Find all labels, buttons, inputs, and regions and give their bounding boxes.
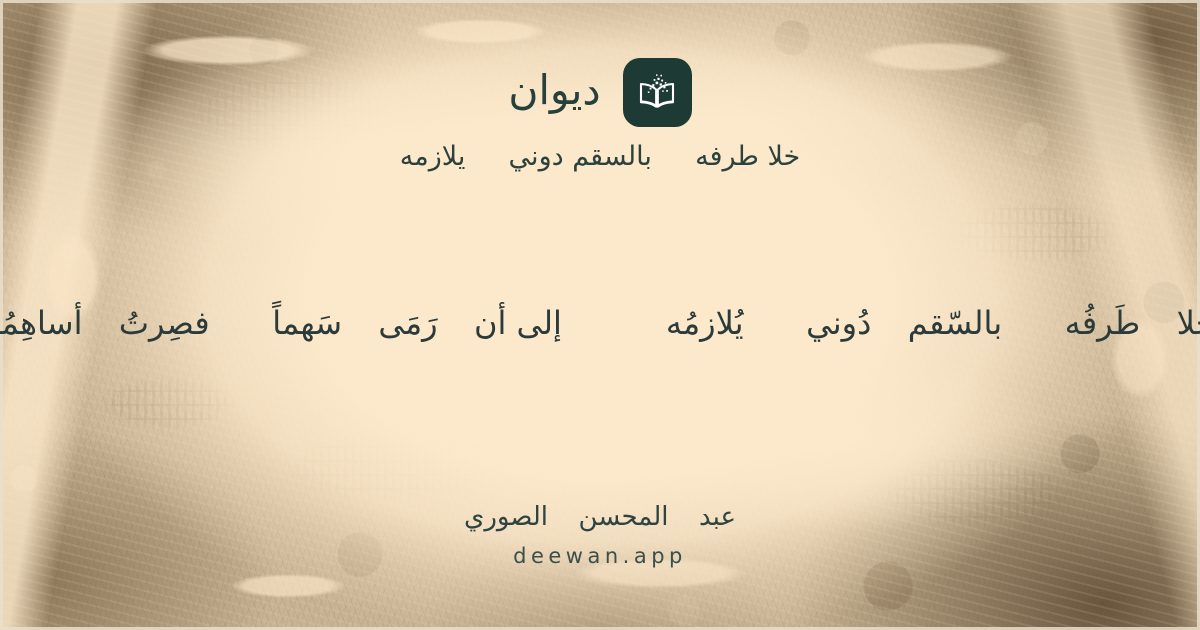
verse-word: خَلا [1177, 304, 1200, 342]
verse-word: أساهِمُه [0, 304, 83, 342]
verse-word: بالسّقم [908, 304, 1002, 342]
headline-part-3: يلازمه [400, 141, 466, 172]
card-content: ديوان خلا طرفه بالسقم دوني يلازمه خَلا ط… [0, 0, 1200, 630]
card-footer: عبد المحسن الصوري deewan.app [0, 500, 1200, 570]
verse-word: إلى أن [474, 304, 562, 342]
verse-headline: خلا طرفه بالسقم دوني يلازمه [0, 137, 1200, 177]
brand-name: ديوان [508, 70, 600, 115]
poet-name-part-2: المحسن [579, 502, 669, 532]
poet-name-part-3: الصوري [464, 502, 548, 532]
poet-name-part-1: عبد [699, 502, 736, 532]
verse-word: فصِرتُ [119, 304, 210, 342]
verse-word: طَرفُه [1065, 304, 1141, 342]
headline-part-1: خلا طرفه [695, 141, 800, 172]
verse-word: يُلازمُه [666, 304, 744, 342]
site-url[interactable]: deewan.app [0, 542, 1200, 570]
poet-name[interactable]: عبد المحسن الصوري [0, 500, 1200, 534]
share-card: ديوان خلا طرفه بالسقم دوني يلازمه خَلا ط… [0, 0, 1200, 630]
verse-word: رَمَى [378, 304, 437, 342]
brand-lockup[interactable]: ديوان [0, 58, 1200, 127]
verse-left-hemistich: إلى أن رَمَى سَهماً فصِرتُ أساهِمُه [0, 296, 562, 350]
verse-line: خَلا طَرفُه بالسّقم دُوني يُلازمُه إلى أ… [0, 296, 1200, 350]
deewan-logo[interactable] [623, 58, 692, 127]
headline-part-2: بالسقم دوني [509, 141, 652, 172]
open-book-with-sparkles-icon [635, 73, 679, 113]
verse-word: دُوني [806, 304, 871, 342]
verse-word: سَهماً [272, 304, 342, 342]
verse-right-hemistich: خَلا طَرفُه بالسّقم دُوني يُلازمُه [666, 296, 1200, 350]
